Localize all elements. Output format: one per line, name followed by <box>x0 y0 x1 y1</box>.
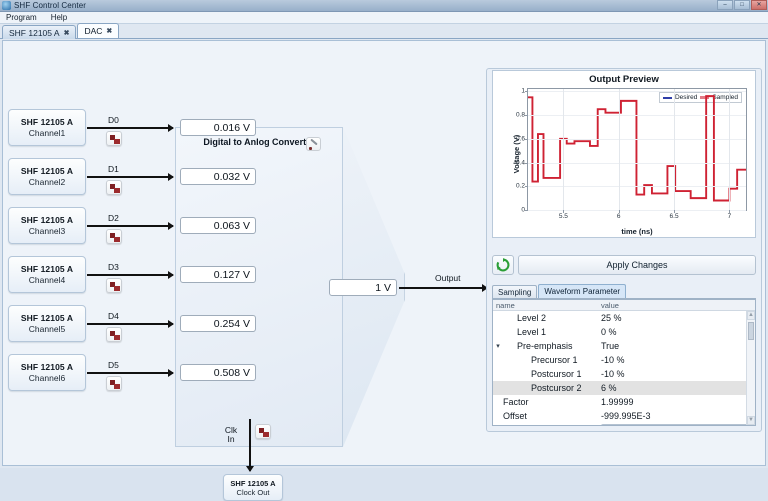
menu-item-program[interactable]: Program <box>4 13 39 22</box>
device-label: SHF 12105 A <box>21 362 73 372</box>
table-row[interactable]: Precursor 1-10 % <box>493 353 755 367</box>
connector-icon[interactable] <box>106 278 122 293</box>
chart-gridline-h <box>528 115 746 116</box>
table-row[interactable]: Level 225 % <box>493 311 755 325</box>
chart-gridline-h <box>528 163 746 164</box>
output-preview-chart: Output Preview Voltage (V) time (ns) Des… <box>492 70 756 238</box>
table-cell-value: Open editor <box>601 424 755 427</box>
expander-icon[interactable]: ▾ <box>493 342 503 350</box>
chart-x-tick-label: 7 <box>728 213 732 220</box>
clock-port-label-line2: In <box>227 434 234 444</box>
chart-y-tickmark <box>525 91 528 92</box>
chart-gridline-h <box>528 91 746 92</box>
chart-y-tick-label: 0.2 <box>516 183 525 190</box>
table-cell-value: -10 % <box>601 355 755 365</box>
clock-connection-arrow <box>249 419 251 471</box>
tab-label: SHF 12105 A <box>9 28 60 38</box>
dac-value-d0[interactable]: 0.016 V <box>180 119 256 136</box>
connection-arrow-d5 <box>87 372 173 374</box>
channel-label: Channel4 <box>29 275 65 285</box>
dac-value-d4[interactable]: 0.254 V <box>180 315 256 332</box>
maximize-button[interactable]: □ <box>734 0 750 10</box>
chart-gridline-v <box>619 89 620 210</box>
chart-y-tick-label: 0.8 <box>516 112 525 119</box>
connector-icon[interactable] <box>255 424 271 439</box>
connector-icon[interactable] <box>106 131 122 146</box>
app-window: SHF Control Center – □ ✕ Program Help SH… <box>0 0 768 468</box>
row-label: Postcursor 2 <box>503 383 582 393</box>
signal-label-d2: D2 <box>108 213 119 223</box>
connector-icon[interactable] <box>106 376 122 391</box>
chart-y-tickmark <box>525 186 528 187</box>
scroll-up-icon[interactable]: ▲ <box>747 311 755 320</box>
table-row[interactable]: Factor1.99999 <box>493 395 755 409</box>
dac-value-d1[interactable]: 0.032 V <box>180 168 256 185</box>
signal-label-d1: D1 <box>108 164 119 174</box>
signal-label-d5: D5 <box>108 360 119 370</box>
chart-x-tick-label: 6.5 <box>670 213 679 220</box>
signal-label-d4: D4 <box>108 311 119 321</box>
chart-title: Output Preview <box>493 74 755 85</box>
chart-x-tick-label: 6 <box>617 213 621 220</box>
chart-gridline-v <box>563 89 564 210</box>
table-cell-name: Level 2 <box>493 313 601 323</box>
signal-label-d3: D3 <box>108 262 119 272</box>
node-channel-2[interactable]: SHF 12105 A Channel2 <box>8 158 86 195</box>
device-label: SHF 12105 A <box>21 313 73 323</box>
row-label: Pre-emphasis <box>503 341 573 351</box>
chart-series-sampled <box>528 96 746 200</box>
app-icon <box>2 1 11 10</box>
dac-value-d2[interactable]: 0.063 V <box>180 217 256 234</box>
node-channel-3[interactable]: SHF 12105 A Channel3 <box>8 207 86 244</box>
table-scrollbar[interactable]: ▲ ▼ <box>746 311 755 425</box>
table-cell-name: ▾Pre-emphasis <box>493 341 601 351</box>
row-label: Precursor 1 <box>503 355 578 365</box>
table-cell-value: True <box>601 341 755 351</box>
connection-arrow-d3 <box>87 274 173 276</box>
row-label: Factor <box>503 397 529 407</box>
chart-y-tick-label: 0.4 <box>516 159 525 166</box>
window-controls: – □ ✕ <box>717 0 767 10</box>
row-label: Function definit... <box>503 425 572 426</box>
device-label: SHF 12105 A <box>230 479 275 488</box>
node-clock-out[interactable]: SHF 12105 A Clock Out <box>223 474 283 501</box>
node-channel-1[interactable]: SHF 12105 A Channel1 <box>8 109 86 146</box>
dac-value-d5[interactable]: 0.508 V <box>180 364 256 381</box>
device-label: SHF 12105 A <box>21 215 73 225</box>
chart-gridline-h <box>528 139 746 140</box>
node-channel-4[interactable]: SHF 12105 A Channel4 <box>8 256 86 293</box>
table-body: Level 225 %Level 10 %▾Pre-emphasisTruePr… <box>493 311 755 426</box>
signal-label-d0: D0 <box>108 115 119 125</box>
table-row[interactable]: Postcursor 1-10 % <box>493 367 755 381</box>
scroll-down-icon[interactable]: ▼ <box>747 416 755 425</box>
table-cell-value: 25 % <box>601 313 755 323</box>
pencil-icon[interactable] <box>306 137 321 151</box>
node-channel-5[interactable]: SHF 12105 A Channel5 <box>8 305 86 342</box>
table-row[interactable]: ▾Pre-emphasisTrue <box>493 339 755 353</box>
table-cell-value: 1.99999 <box>601 397 755 407</box>
connection-arrow-d2 <box>87 225 173 227</box>
menu-item-help[interactable]: Help <box>49 13 69 22</box>
channel-label: Channel5 <box>29 324 65 334</box>
chart-series-svg <box>528 89 746 210</box>
chart-gridline-h <box>528 186 746 187</box>
table-row[interactable]: Function definit...Open editor <box>493 423 755 426</box>
chart-x-axis-label: time (ns) <box>527 227 747 236</box>
channel-label: Channel6 <box>29 373 65 383</box>
chart-y-tickmark <box>525 210 528 211</box>
node-channel-6[interactable]: SHF 12105 A Channel6 <box>8 354 86 391</box>
chart-plot-area: Desired Sampled 00.20.40.60.815.566.57 <box>527 88 747 211</box>
table-cell-name: Precursor 1 <box>493 355 601 365</box>
table-row[interactable]: Postcursor 26 % <box>493 381 755 395</box>
connection-arrow-d1 <box>87 176 173 178</box>
chart-y-tick-label: 1 <box>521 88 525 95</box>
minimize-button[interactable]: – <box>717 0 733 10</box>
row-label: Level 2 <box>503 313 546 323</box>
tab-shf-12105-a[interactable]: SHF 12105 A ✖ <box>2 25 76 39</box>
row-label: Offset <box>503 411 527 421</box>
output-label: Output <box>435 273 461 283</box>
channel-label: Channel2 <box>29 177 65 187</box>
row-label: Level 1 <box>503 327 546 337</box>
chart-y-tickmark <box>525 115 528 116</box>
open-editor-button[interactable]: Open editor <box>601 424 751 427</box>
chart-y-tick-label: 0 <box>521 207 525 214</box>
close-button[interactable]: ✕ <box>751 0 767 10</box>
chart-y-tickmark <box>525 163 528 164</box>
column-header-name: name <box>493 301 601 310</box>
column-header-value: value <box>601 301 755 310</box>
chart-y-tick-label: 0.6 <box>516 135 525 142</box>
connection-arrow-d4 <box>87 323 173 325</box>
tab-close-icon[interactable]: ✖ <box>106 27 112 35</box>
refresh-button[interactable] <box>492 255 514 275</box>
tab-dac[interactable]: DAC ✖ <box>77 23 119 38</box>
tab-sampling[interactable]: Sampling <box>492 285 537 298</box>
refresh-icon <box>496 258 510 272</box>
chart-y-tickmark <box>525 139 528 140</box>
table-header: name value <box>493 300 755 311</box>
title-bar: SHF Control Center – □ ✕ <box>0 0 768 12</box>
table-cell-value: 6 % <box>601 383 755 393</box>
device-label: SHF 12105 A <box>21 117 73 127</box>
table-row[interactable]: Level 10 % <box>493 325 755 339</box>
device-label: SHF 12105 A <box>21 264 73 274</box>
apply-changes-button[interactable]: Apply Changes <box>518 255 756 275</box>
connector-icon[interactable] <box>106 229 122 244</box>
table-cell-name: Factor <box>493 397 601 407</box>
connection-arrow-d0 <box>87 127 173 129</box>
connector-icon[interactable] <box>106 180 122 195</box>
dac-title: Digital to Anlog Converter <box>199 137 319 147</box>
tab-label: DAC <box>84 26 102 36</box>
channel-label: Channel1 <box>29 128 65 138</box>
chart-gridline-h <box>528 210 746 211</box>
channel-label: Channel3 <box>29 226 65 236</box>
dac-output-value[interactable]: 1 V <box>329 279 397 296</box>
tab-close-icon[interactable]: ✖ <box>64 29 70 37</box>
chart-gridline-v <box>674 89 675 210</box>
table-cell-name: Postcursor 2 <box>493 383 601 393</box>
table-cell-value: -10 % <box>601 369 755 379</box>
tab-waveform-parameter[interactable]: Waveform Parameter <box>538 284 626 298</box>
table-cell-name: Postcursor 1 <box>493 369 601 379</box>
row-label: Postcursor 1 <box>503 369 582 379</box>
chart-x-tick-label: 5.5 <box>559 213 568 220</box>
table-cell-name: Offset <box>493 411 601 421</box>
device-label: SHF 12105 A <box>21 166 73 176</box>
parameter-table: name value Level 225 %Level 10 %▾Pre-emp… <box>492 299 756 426</box>
table-cell-name: Level 1 <box>493 327 601 337</box>
table-row[interactable]: Offset-999.995E-3 <box>493 409 755 423</box>
table-cell-value: 0 % <box>601 327 755 337</box>
connector-icon[interactable] <box>106 327 122 342</box>
parameter-tab-strip: Sampling Waveform Parameter <box>492 285 756 299</box>
window-title: SHF Control Center <box>14 1 86 10</box>
scroll-thumb[interactable] <box>748 322 754 340</box>
channel-label: Clock Out <box>237 488 270 497</box>
chart-gridline-v <box>729 89 730 210</box>
table-cell-value: -999.995E-3 <box>601 411 755 421</box>
tab-strip: SHF 12105 A ✖ DAC ✖ <box>0 24 768 39</box>
table-cell-name: Function definit... <box>493 425 601 426</box>
output-arrow <box>399 287 487 289</box>
dac-value-d3[interactable]: 0.127 V <box>180 266 256 283</box>
